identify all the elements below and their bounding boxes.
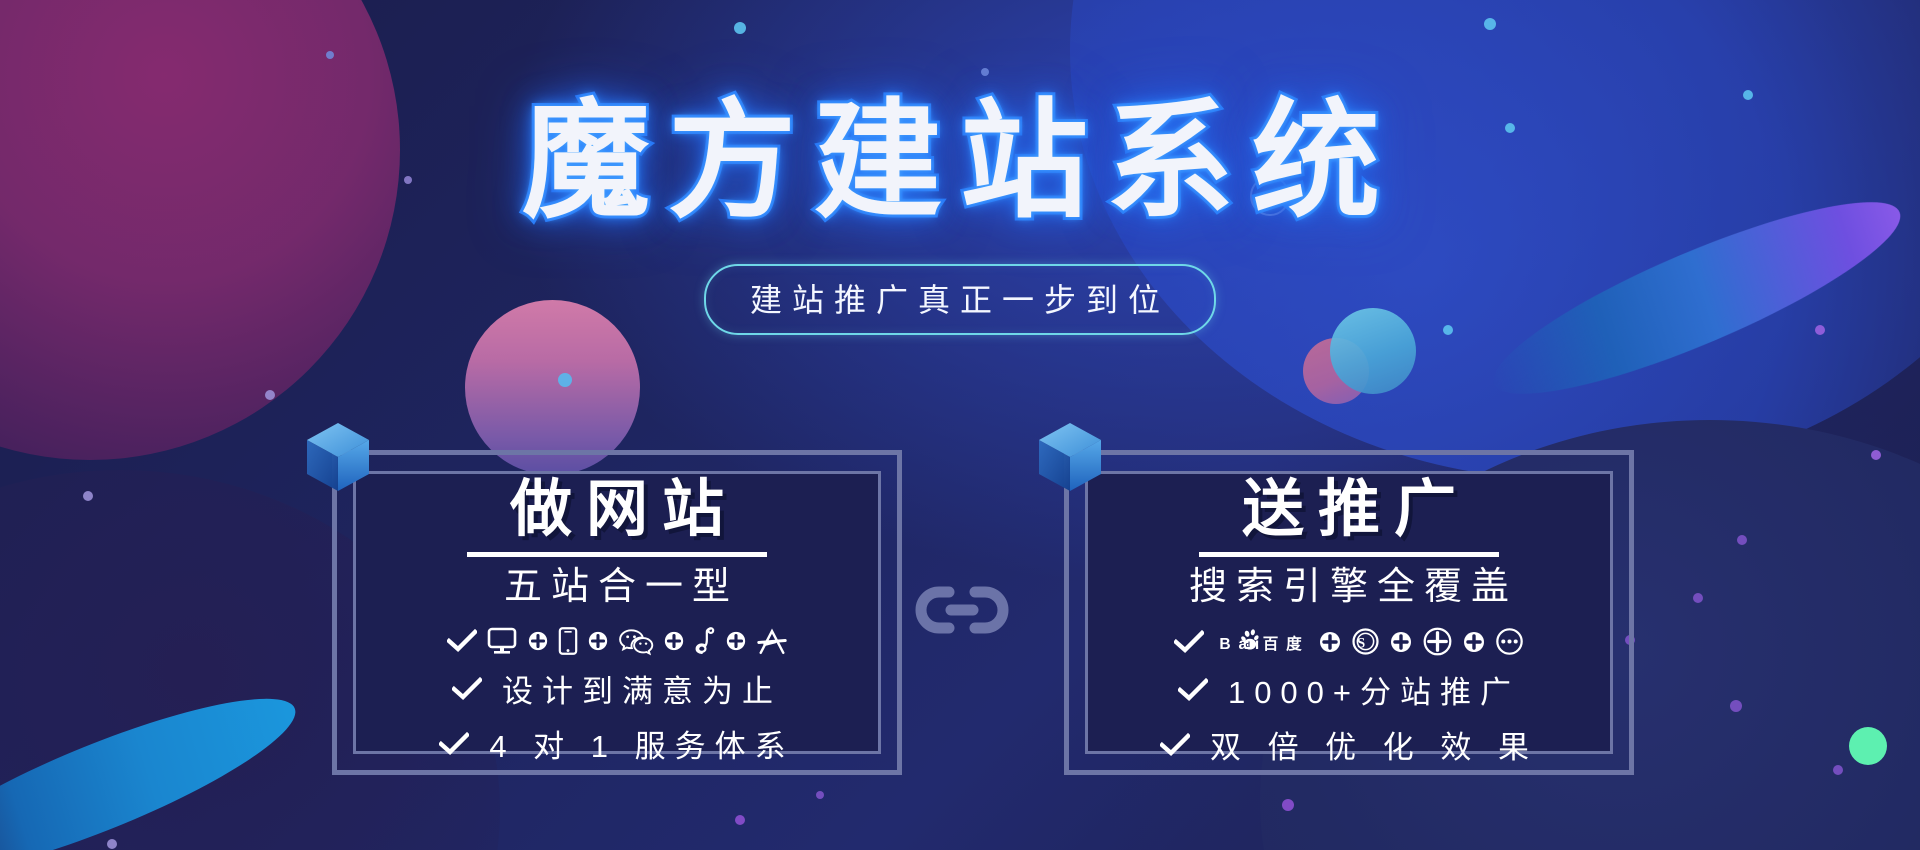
sogou-letter: S [1357, 636, 1374, 652]
check-icon [452, 677, 482, 701]
plus-circle-icon [663, 630, 685, 652]
star-dot [981, 68, 989, 76]
star-dot [1282, 799, 1294, 811]
plus-circle-icon [527, 630, 549, 652]
feature-icon-row [447, 626, 788, 656]
feature-row: 1000+分站推广 [1178, 667, 1520, 712]
star-dot [816, 791, 824, 799]
star-dot [107, 839, 117, 849]
monitor-icon [486, 626, 518, 656]
check-icon [1178, 678, 1208, 702]
panel-heading: 送推广 [1228, 477, 1470, 542]
hero-subtitle-wrap: 建站推广真正一步到位 [0, 264, 1920, 335]
panel-divider [1199, 552, 1499, 557]
star-dot [558, 373, 572, 387]
plus-circle-icon [587, 630, 609, 652]
star-dot [735, 815, 745, 825]
feature-label: 1000+分站推广 [1222, 667, 1520, 712]
plus-circle-icon [1462, 630, 1486, 654]
star-dot [326, 51, 334, 59]
sphere-duo-pink [1303, 338, 1369, 404]
baidu-logo-icon: Bai du 百度 [1213, 629, 1309, 655]
feature-label: 设计到满意为止 [496, 666, 782, 711]
hero-section: 魔方建站系统 建站推广真正一步到位 [0, 98, 1920, 335]
banner-root: 魔方建站系统 建站推广真正一步到位 [0, 0, 1920, 850]
more-ellipsis-icon [1495, 627, 1524, 656]
check-icon [447, 629, 477, 653]
check-icon [1160, 733, 1190, 757]
panel-content-right: 送推广 搜索引擎全覆盖 Bai [1069, 455, 1629, 770]
feature-row: 设计到满意为止 [452, 666, 782, 711]
plus-circle-icon [725, 630, 747, 652]
star-dot [265, 390, 275, 400]
baidu-cn-text: 百度 [1263, 634, 1309, 653]
panel-content-left: 做网站 五站合一型 [337, 455, 897, 770]
panel-heading: 做网站 [496, 477, 738, 542]
panel-divider [467, 552, 767, 557]
360-search-icon [1422, 626, 1453, 657]
wechat-icon [618, 627, 654, 656]
plus-circle-icon [1318, 630, 1342, 654]
check-icon [1174, 630, 1204, 654]
qq-icon [694, 626, 716, 656]
feature-row: 双 倍 优 化 效 果 [1160, 722, 1538, 767]
sogou-icon: S [1351, 627, 1380, 656]
star-dot [734, 22, 746, 34]
feature-label: 双 倍 优 化 效 果 [1204, 722, 1538, 767]
hero-subtitle-pill: 建站推广真正一步到位 [704, 264, 1216, 335]
star-dot [1484, 18, 1496, 30]
panel-subheading: 搜索引擎全覆盖 [1180, 563, 1518, 612]
panel-subheading: 五站合一型 [495, 563, 739, 612]
page-title: 魔方建站系统 [0, 98, 1920, 226]
feature-row: 4 对 1 服务体系 [439, 721, 794, 766]
search-engine-icon-row: Bai du 百度 [1174, 626, 1524, 657]
feature-label: 4 对 1 服务体系 [483, 721, 794, 766]
panel-free-promotion: 送推广 搜索引擎全覆盖 Bai [1064, 450, 1634, 775]
check-icon [439, 732, 469, 756]
plus-circle-icon [1389, 630, 1413, 654]
smartphone-icon [558, 626, 578, 656]
feature-panels: 做网站 五站合一型 [0, 450, 1920, 780]
app-store-icon [756, 627, 788, 656]
panel-make-website: 做网站 五站合一型 [332, 450, 902, 775]
